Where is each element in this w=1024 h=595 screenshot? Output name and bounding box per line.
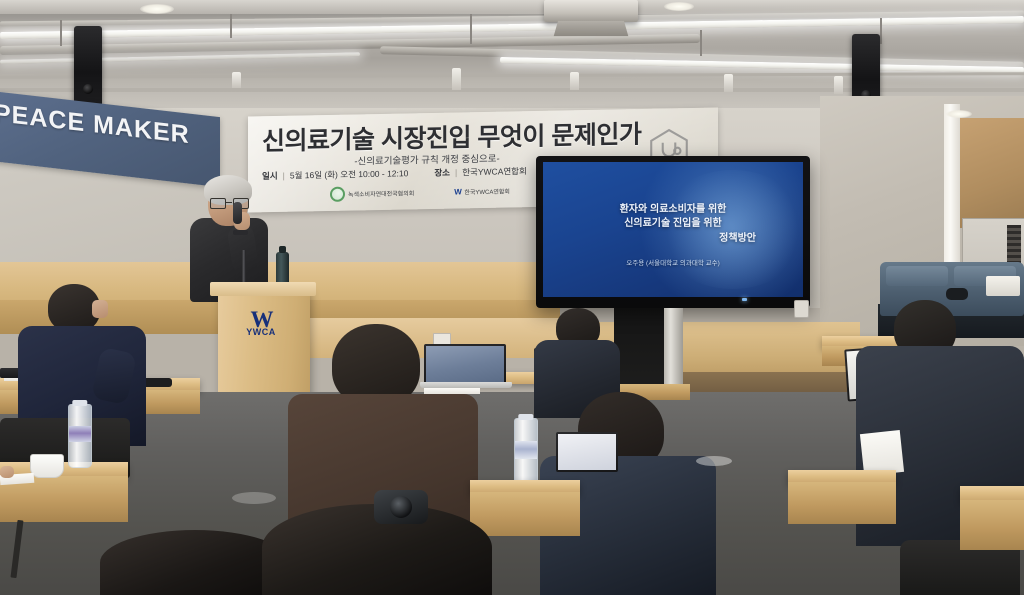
podium-top-surface (210, 282, 316, 296)
audience-hand (92, 300, 108, 318)
ceiling-speaker (74, 26, 102, 110)
laptop[interactable] (556, 432, 618, 472)
desk-front-panel (470, 492, 580, 536)
green-circle-logo-icon (330, 187, 345, 202)
cable-hook (570, 72, 579, 90)
banner-meta-date-sep: | (283, 171, 285, 181)
floor-marking (696, 456, 732, 466)
podium-logo-text: YWCA (236, 327, 286, 338)
sofa-object-dark (946, 288, 968, 300)
slide-title-line-3: 정책방안 (564, 232, 782, 247)
microphone-icon (233, 202, 242, 224)
laptop[interactable] (424, 344, 506, 384)
podium-ywca-logo: W YWCA (236, 312, 286, 344)
banner-meta-place: 장소 | 한국YWCA연합회 (434, 165, 526, 179)
slide-title-line-2: 신의료기술 진입을 위한 (564, 217, 782, 232)
ywca-logo-icon: W (454, 187, 461, 196)
ceiling-hanger (880, 18, 882, 44)
bottle-label (515, 441, 537, 458)
wall-downlight (946, 110, 972, 118)
projector-mount (554, 21, 629, 36)
bottle-cap-icon (72, 400, 87, 406)
sponsor-logo-ywca-text: 한국YWCA연합회 (464, 186, 510, 196)
ceiling-hanger (470, 14, 472, 44)
slide-byline: 오주용 (서울대학교 의과대학 교수) (543, 257, 803, 267)
wall-power-socket[interactable] (794, 300, 809, 318)
laptop-screen-display (558, 434, 616, 470)
desk-front-panel (960, 500, 1024, 550)
ceiling-hanger (60, 20, 62, 46)
sponsor-logo-green-consumer-text: 녹색소비자연대전국협의회 (348, 188, 414, 198)
ceiling-hanger (230, 14, 232, 38)
slide-title-line-1: 환자와 의료소비자를 위한 (564, 203, 782, 218)
sponsor-logo-green-consumer: 녹색소비자연대전국협의회 (330, 185, 414, 202)
cable-hook (232, 72, 241, 88)
sofa-cushion (886, 266, 948, 286)
display-power-led-icon (742, 298, 747, 301)
seminar-room-photo: PEACE MAKER 신의료기술 시장진입 무엇이 문제인가 -신의료기술평가… (0, 0, 1024, 595)
water-bottle[interactable] (68, 404, 92, 468)
bottle-cap-icon (518, 414, 533, 420)
right-wall-wood-panel (960, 118, 1024, 228)
banner-meta-date-value: 5월 16일 (화) 오전 10:00 - 12:10 (290, 167, 409, 181)
cable-hook (452, 68, 461, 90)
floor-marking (232, 492, 276, 504)
wristwatch-icon (233, 230, 248, 235)
banner-meta-place-sep: | (455, 167, 457, 177)
ceiling-downlight (140, 4, 174, 14)
sponsor-logo-ywca: W 한국YWCA연합회 (454, 186, 510, 196)
ywca-w-mark-icon: W (236, 312, 286, 327)
ceiling-projector (544, 0, 638, 22)
cable-hook (724, 74, 733, 92)
audience-hand (0, 466, 14, 478)
ceiling-hanger (700, 30, 702, 56)
sofa-object-box (986, 276, 1020, 296)
camera-lens-icon (390, 496, 412, 518)
cable-hook (834, 76, 843, 94)
slide-title: 환자와 의료소비자를 위한 신의료기술 진입을 위한 정책방안 (564, 203, 782, 247)
banner-meta-place-label: 장소 (434, 166, 450, 178)
laptop-screen-display (426, 346, 504, 382)
ceiling-downlight (664, 2, 694, 11)
bottle-cap-icon (279, 246, 286, 253)
bottle-label (69, 426, 91, 442)
presentation-slide: 환자와 의료소비자를 위한 신의료기술 진입을 위한 정책방안 오주용 (서울대… (543, 162, 803, 297)
presentation-display[interactable]: 환자와 의료소비자를 위한 신의료기술 진입을 위한 정책방안 오주용 (서울대… (536, 156, 810, 308)
banner-meta-place-value: 한국YWCA연합회 (462, 165, 527, 178)
coffee-cup[interactable] (30, 454, 64, 478)
water-bottle[interactable] (514, 418, 538, 486)
desk-front-panel (788, 482, 896, 524)
